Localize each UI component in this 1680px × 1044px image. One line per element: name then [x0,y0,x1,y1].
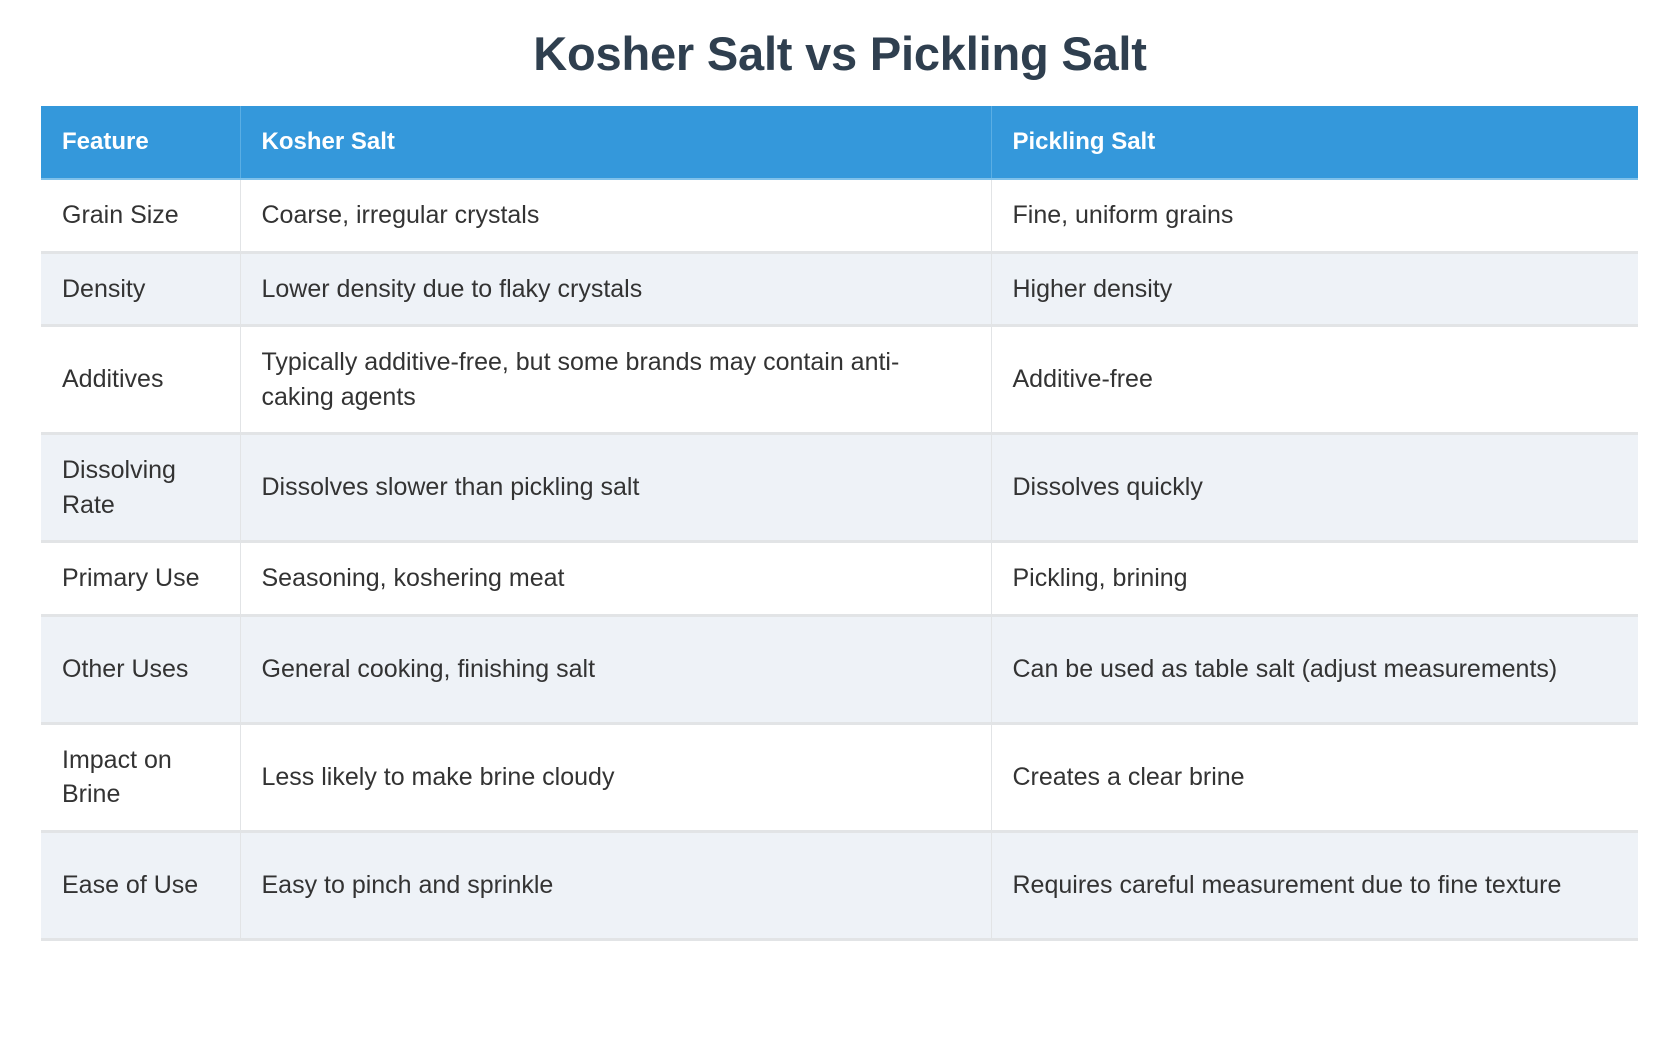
cell-kosher-salt: Easy to pinch and sprinkle [240,831,991,939]
table-row: Other Uses General cooking, finishing sa… [41,615,1638,723]
cell-pickling-salt: Fine, uniform grains [991,179,1638,252]
cell-pickling-salt: Requires careful measurement due to fine… [991,831,1638,939]
cell-pickling-salt: Dissolves quickly [991,434,1638,542]
cell-feature: Other Uses [41,615,240,723]
column-header-feature[interactable]: Feature [41,106,240,179]
cell-kosher-salt: Less likely to make brine cloudy [240,723,991,831]
table-body: Grain Size Coarse, irregular crystals Fi… [41,179,1638,939]
cell-kosher-salt: General cooking, finishing salt [240,615,991,723]
table-row: Primary Use Seasoning, koshering meat Pi… [41,542,1638,616]
cell-kosher-salt: Typically additive-free, but some brands… [240,326,991,434]
cell-feature: Ease of Use [41,831,240,939]
cell-feature: Grain Size [41,179,240,252]
table-row: Impact on Brine Less likely to make brin… [41,723,1638,831]
comparison-table: Feature Kosher Salt Pickling Salt Grain … [41,106,1638,941]
cell-pickling-salt: Additive-free [991,326,1638,434]
cell-pickling-salt: Can be used as table salt (adjust measur… [991,615,1638,723]
table-header-row: Feature Kosher Salt Pickling Salt [41,106,1638,179]
cell-feature: Additives [41,326,240,434]
cell-kosher-salt: Dissolves slower than pickling salt [240,434,991,542]
table-row: Additives Typically additive-free, but s… [41,326,1638,434]
table-row: Density Lower density due to flaky cryst… [41,252,1638,326]
cell-kosher-salt: Lower density due to flaky crystals [240,252,991,326]
page-title: Kosher Salt vs Pickling Salt [0,0,1680,81]
comparison-table-container: Feature Kosher Salt Pickling Salt Grain … [41,106,1638,941]
cell-feature: Primary Use [41,542,240,616]
comparison-table-page: Kosher Salt vs Pickling Salt Feature Kos… [0,0,1680,1044]
table-header: Feature Kosher Salt Pickling Salt [41,106,1638,179]
cell-feature: Impact on Brine [41,723,240,831]
cell-feature: Dissolving Rate [41,434,240,542]
table-row: Grain Size Coarse, irregular crystals Fi… [41,179,1638,252]
table-row: Ease of Use Easy to pinch and sprinkle R… [41,831,1638,939]
table-row: Dissolving Rate Dissolves slower than pi… [41,434,1638,542]
cell-pickling-salt: Creates a clear brine [991,723,1638,831]
column-header-pickling-salt[interactable]: Pickling Salt [991,106,1638,179]
cell-kosher-salt: Coarse, irregular crystals [240,179,991,252]
cell-pickling-salt: Higher density [991,252,1638,326]
cell-pickling-salt: Pickling, brining [991,542,1638,616]
cell-feature: Density [41,252,240,326]
cell-kosher-salt: Seasoning, koshering meat [240,542,991,616]
column-header-kosher-salt[interactable]: Kosher Salt [240,106,991,179]
